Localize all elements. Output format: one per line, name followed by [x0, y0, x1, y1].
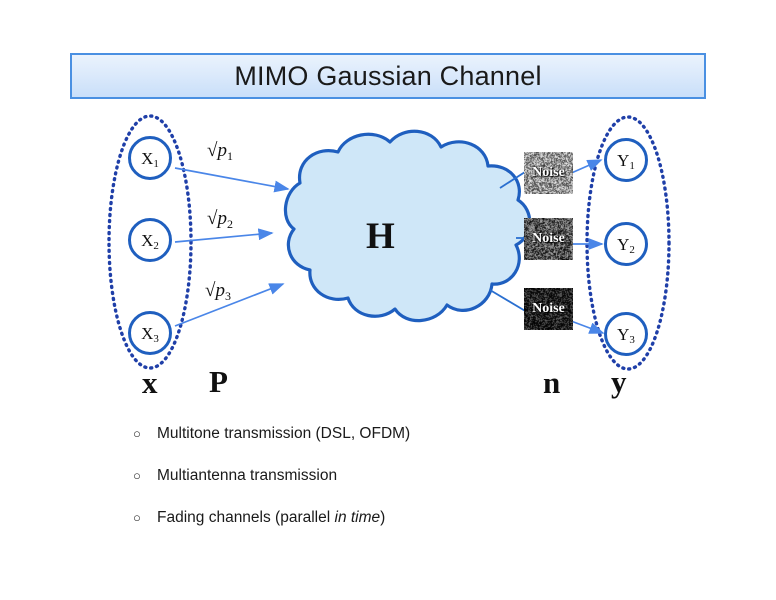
- bullet-marker-icon: ○: [133, 426, 157, 441]
- slide-title-banner: MIMO Gaussian Channel: [70, 53, 706, 99]
- noise-block-2: Noise: [524, 218, 573, 260]
- noise-block-3-label: Noise: [532, 301, 565, 317]
- output-vector-label: y: [611, 366, 627, 397]
- noise-block-1-label: Noise: [532, 165, 565, 181]
- bullet-list: ○ Multitone transmission (DSL, OFDM) ○ M…: [133, 425, 693, 551]
- power-matrix-label: P: [209, 366, 228, 397]
- bullet-text-3: Fading channels (parallel in time): [157, 509, 385, 527]
- input-node-x1-label: X1: [141, 150, 159, 167]
- page-title: MIMO Gaussian Channel: [234, 61, 541, 92]
- output-node-y2[interactable]: Y2: [604, 222, 648, 266]
- noise-block-1: Noise: [524, 152, 573, 194]
- list-item: ○ Multiantenna transmission: [133, 467, 693, 485]
- connector-cloud-to-noise3: [490, 290, 527, 312]
- input-vector-label: x: [142, 367, 158, 398]
- gain-label-p2: √p2: [207, 208, 233, 230]
- input-node-x1[interactable]: X1: [128, 136, 172, 180]
- input-node-x2-label: X2: [141, 232, 159, 249]
- input-node-x3[interactable]: X3: [128, 311, 172, 355]
- bullet-marker-icon: ○: [133, 468, 157, 483]
- noise-block-2-label: Noise: [532, 231, 565, 247]
- list-item: ○ Multitone transmission (DSL, OFDM): [133, 425, 693, 443]
- connector-x1-to-cloud: [175, 168, 288, 189]
- channel-matrix-label: H: [366, 215, 395, 258]
- list-item: ○ Fading channels (parallel in time): [133, 509, 693, 527]
- noise-block-3: Noise: [524, 288, 573, 330]
- output-node-y1-label: Y1: [617, 152, 635, 169]
- input-node-x2[interactable]: X2: [128, 218, 172, 262]
- output-node-y1[interactable]: Y1: [604, 138, 648, 182]
- bullet-marker-icon: ○: [133, 510, 157, 525]
- output-node-y3[interactable]: Y3: [604, 312, 648, 356]
- gain-label-p1: √p1: [207, 140, 233, 162]
- noise-vector-label: n: [543, 367, 560, 398]
- bullet-text-1: Multitone transmission (DSL, OFDM): [157, 425, 410, 443]
- gain-label-p3: √p3: [205, 280, 231, 302]
- output-node-y2-label: Y2: [617, 236, 635, 253]
- output-node-y3-label: Y3: [617, 326, 635, 343]
- bullet-text-2: Multiantenna transmission: [157, 467, 337, 485]
- input-node-x3-label: X3: [141, 325, 159, 342]
